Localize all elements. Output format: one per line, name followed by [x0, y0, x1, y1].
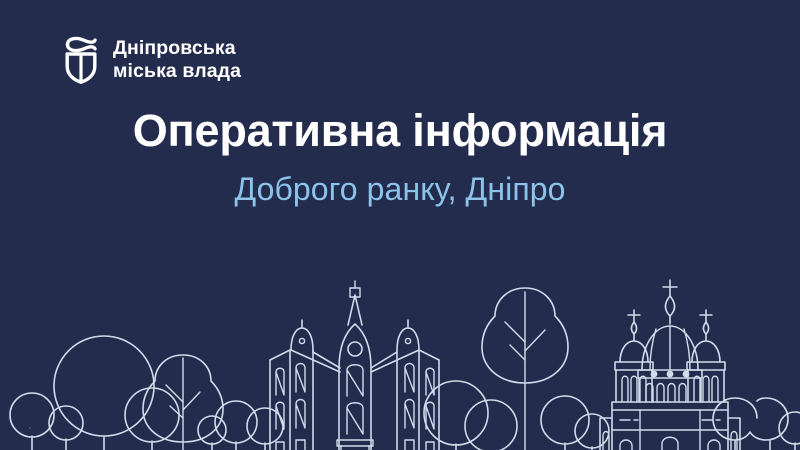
tree-cloud-right [713, 398, 788, 450]
historic-building [270, 281, 439, 450]
logo-line-1: Дніпровська [113, 37, 241, 60]
page-subtitle: Доброго ранку, Дніпро [0, 170, 800, 208]
logo-lockup[interactable]: Дніпровська міська влада [62, 36, 241, 84]
logo-text: Дніпровська міська влада [113, 37, 241, 82]
page-title: Оперативна інформація [0, 104, 800, 157]
shield-icon [62, 36, 100, 84]
tree-large-round [54, 336, 154, 450]
tree-round-center [465, 400, 517, 450]
tree-branching-left [143, 355, 223, 450]
tree-round-center-right [541, 396, 589, 450]
headline-block: Оперативна інформація Доброго ранку, Дні… [0, 104, 800, 208]
tree-branching-center [482, 288, 568, 450]
tree-round-far-right [779, 412, 800, 450]
logo-line-2: міська влада [113, 60, 241, 83]
skyline-illustration [0, 250, 800, 450]
tree-round-mid-2 [247, 408, 283, 450]
banner-root: Дніпровська міська влада Оперативна інфо… [0, 0, 800, 450]
tree-round-far-left [10, 393, 54, 450]
cathedral [600, 280, 740, 450]
tree-round-mid [215, 401, 257, 450]
